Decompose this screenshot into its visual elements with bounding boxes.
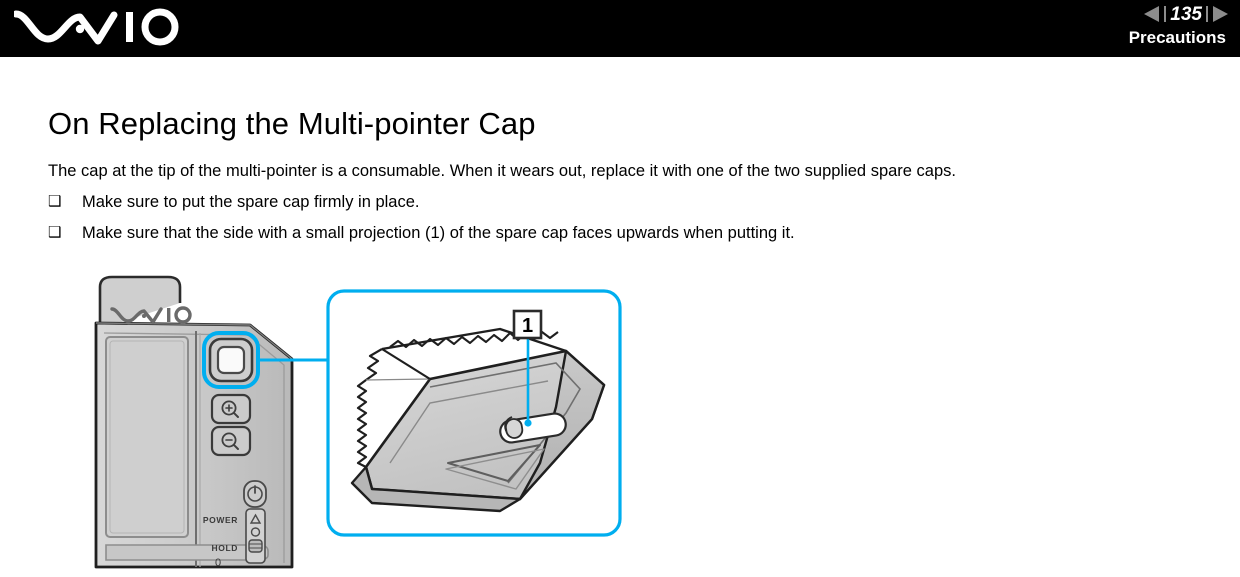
page-content: On Replacing the Multi-pointer Cap The c…	[0, 57, 1240, 574]
list-item-label: Make sure to put the spare cap firmly in…	[82, 192, 420, 212]
device-marking-label: 0	[215, 557, 221, 569]
page-title: On Replacing the Multi-pointer Cap	[48, 107, 536, 141]
vaio-logo	[14, 5, 184, 51]
zoom-out-button	[212, 427, 250, 455]
callout-marker-label: 1	[522, 315, 533, 337]
page-number-group: 135	[1164, 5, 1208, 24]
page-navigation: 135	[1144, 1, 1228, 27]
callout-marker-1: 1	[514, 311, 541, 338]
hold-switch	[246, 509, 265, 563]
header-right-group: 135 Precautions	[1129, 0, 1228, 57]
section-title: Precautions	[1129, 29, 1228, 47]
intro-paragraph: The cap at the tip of the multi-pointer …	[48, 161, 956, 181]
spare-cap-detail-callout: 1	[328, 291, 620, 535]
page-number-divider-left	[1164, 6, 1166, 22]
power-button	[244, 481, 266, 507]
hold-label: HOLD	[212, 543, 238, 553]
device-bottom-slot	[106, 545, 268, 560]
vaio-ux-handheld-device: POWER HOLD 0	[96, 277, 330, 577]
multi-pointer-cap-illustration: POWER HOLD 0	[0, 267, 1240, 577]
page-number-divider-right	[1206, 6, 1208, 22]
projection-leader-dot	[524, 419, 531, 426]
triangle-right-icon[interactable]	[1213, 6, 1228, 22]
page-header: 135 Precautions	[0, 0, 1240, 57]
list-item-label: Make sure that the side with a small pro…	[82, 223, 795, 243]
list-item: ❑ Make sure that the side with a small p…	[48, 223, 795, 243]
bullet-square-icon: ❑	[48, 192, 82, 212]
page-number: 135	[1170, 5, 1202, 24]
slider-switch-icon	[249, 540, 262, 552]
triangle-left-icon[interactable]	[1144, 6, 1159, 22]
multi-pointer-button	[210, 339, 252, 381]
bullet-square-icon: ❑	[48, 223, 82, 243]
zoom-in-button	[212, 395, 250, 423]
power-label: POWER	[203, 515, 238, 525]
list-item: ❑ Make sure to put the spare cap firmly …	[48, 192, 420, 212]
